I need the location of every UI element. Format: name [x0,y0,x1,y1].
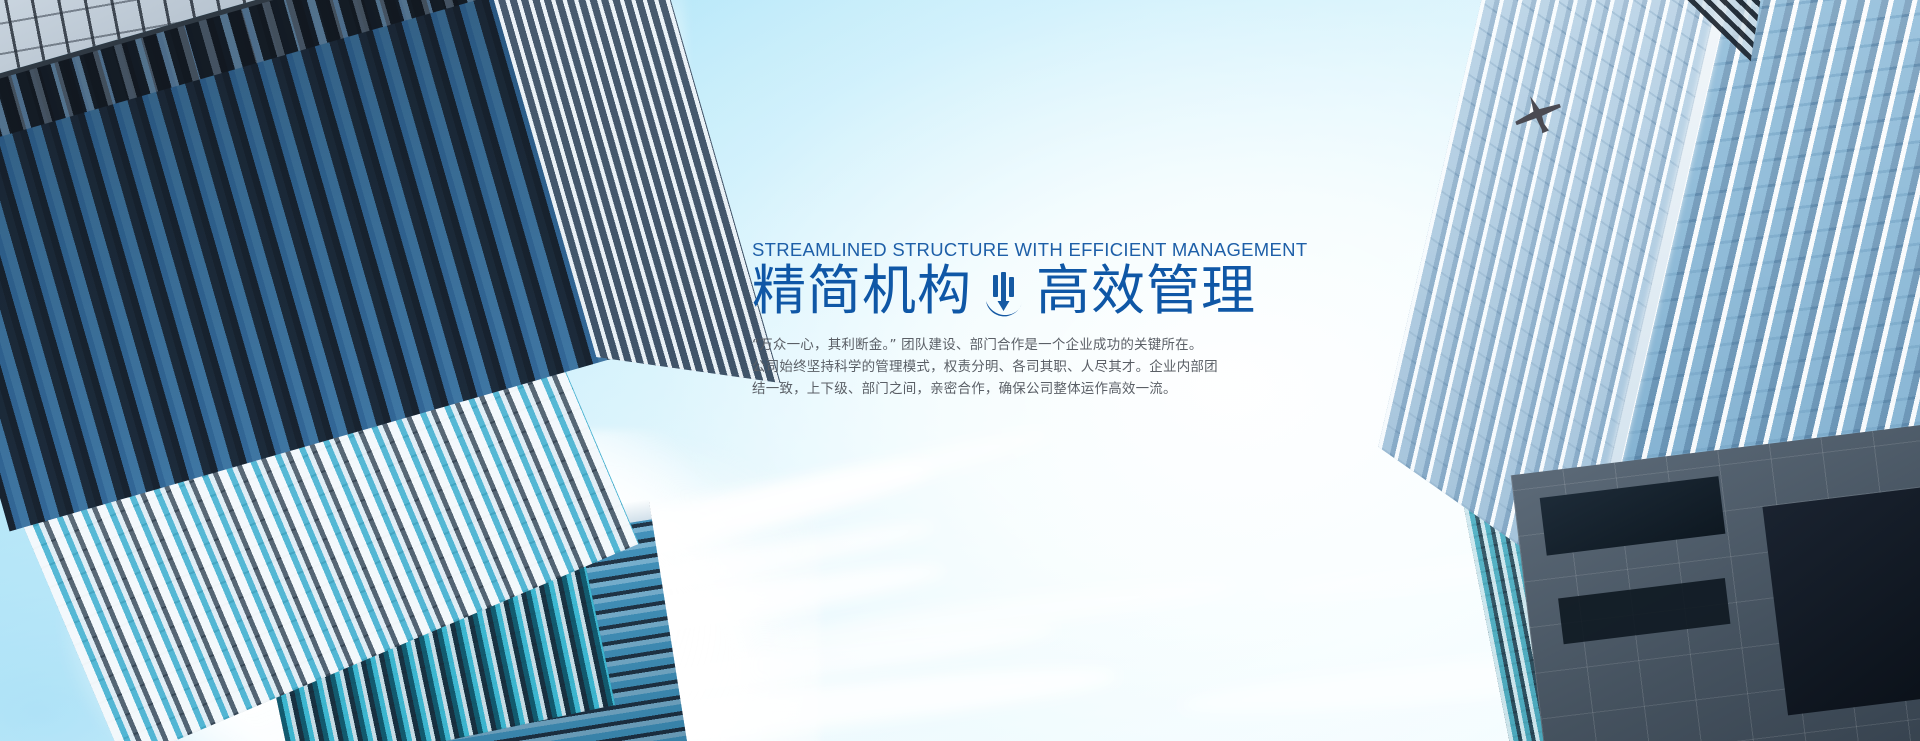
hero-banner: STREAMLINED STRUCTURE WITH EFFICIENT MAN… [0,0,1920,741]
banner-eyebrow-text: STREAMLINED STRUCTURE WITH EFFICIENT MAN… [752,240,1272,259]
paragraph-line: “万众一心，其利断金。” 团队建设、部门合作是一个企业成功的关键所在。 [752,335,1262,357]
right-lower-stone-block [1511,424,1920,741]
banner-paragraph: “万众一心，其利断金。” 团队建设、部门合作是一个企业成功的关键所在。 公司始终… [752,335,1262,401]
paragraph-line: 结一致，上下级、部门之间，亲密合作，确保公司整体运作高效一流。 [752,379,1262,401]
building-shadowed-recess [1762,485,1920,715]
headline-right-phrase: 高效管理 [1036,261,1256,321]
downward-arrow-swoosh-logo-icon [984,271,1024,319]
banner-copy-block: STREAMLINED STRUCTURE WITH EFFICIENT MAN… [752,240,1272,400]
paragraph-line: 公司始终坚持科学的管理模式，权责分明、各司其职、人尽其才。企业内部团 [752,357,1262,379]
headline-left-phrase: 精简机构 [752,261,972,321]
banner-headline: 精简机构 高效管理 [752,261,1272,321]
